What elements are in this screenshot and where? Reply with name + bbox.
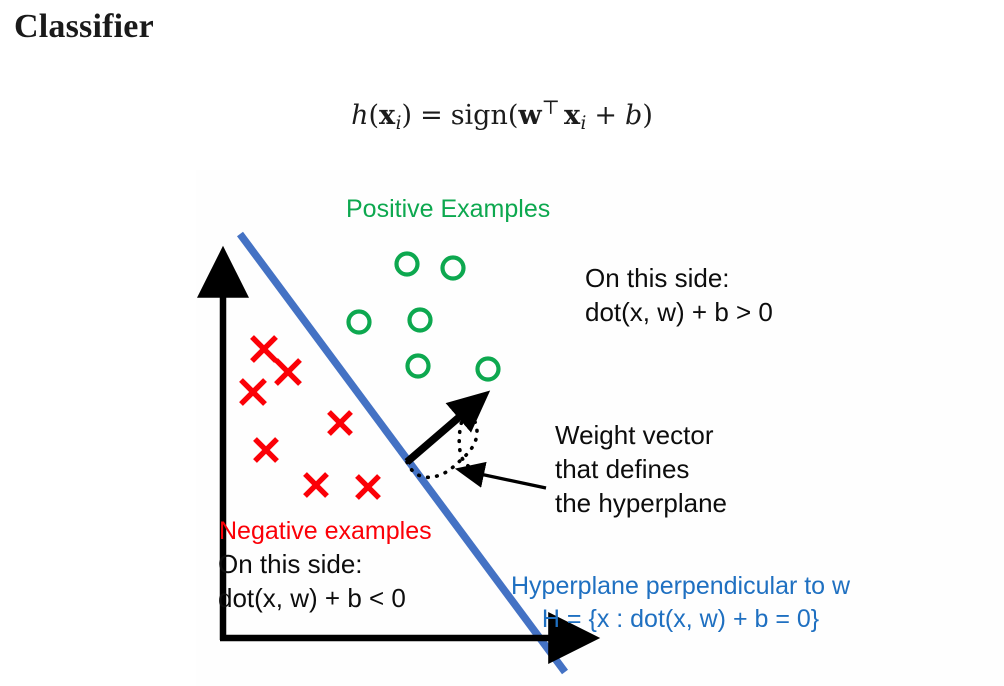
formula-sign-operator: sign [451, 100, 508, 131]
weight-vector-line-1: Weight vector [555, 419, 727, 453]
weight-vector-line-2: that defines [555, 453, 727, 487]
negative-examples-markers [241, 337, 379, 498]
negative-marker [305, 474, 327, 496]
classifier-figure: Positive Examples Negative examples On t… [196, 170, 1004, 686]
negative-marker [276, 360, 300, 384]
hyperplane-annotation: Hyperplane perpendicular to w H = {x : d… [511, 570, 850, 635]
positive-marker [349, 312, 370, 333]
hyperplane-line-2: H = {x : dot(x, w) + b = 0} [511, 603, 850, 636]
positive-side-line-2: dot(x, w) + b > 0 [585, 296, 773, 330]
negative-marker [255, 439, 277, 461]
positive-marker [443, 258, 464, 279]
formula-x-1: x [379, 100, 395, 131]
positive-side-line-1: On this side: [585, 262, 773, 296]
positive-examples-markers [349, 254, 499, 380]
formula-h: h [351, 100, 368, 131]
formula-w: w [518, 100, 541, 131]
positive-marker [410, 310, 431, 331]
page-title: Classifier [14, 7, 154, 47]
formula-subscript-2: i [581, 113, 587, 134]
formula-b: b [625, 100, 642, 131]
positive-side-annotation: On this side: dot(x, w) + b > 0 [585, 262, 773, 330]
positive-marker [478, 359, 499, 380]
formula-transpose: ⊤ [542, 96, 560, 119]
positive-examples-label: Positive Examples [346, 193, 550, 226]
negative-side-annotation: On this side: dot(x, w) + b < 0 [218, 548, 406, 616]
negative-marker [241, 380, 265, 404]
formula-plus: + [594, 100, 617, 131]
negative-marker [329, 412, 351, 434]
positive-marker [397, 254, 418, 275]
negative-examples-label: Negative examples [219, 515, 432, 548]
formula-paren-open: ( [368, 100, 379, 131]
weight-vector-line-3: the hyperplane [555, 487, 727, 521]
hyperplane-line-1: Hyperplane perpendicular to w [511, 570, 850, 603]
positive-marker [408, 356, 429, 377]
formula-paren-open-2: ( [508, 100, 519, 131]
negative-marker [252, 337, 276, 361]
negative-side-line-1: On this side: [218, 548, 406, 582]
negative-marker [357, 476, 379, 498]
weight-vector-annotation: Weight vector that defines the hyperplan… [555, 419, 727, 520]
formula-paren-close: ) [402, 100, 413, 131]
formula-equals: = [420, 100, 443, 131]
formula-x-2: x [564, 100, 580, 131]
negative-side-line-2: dot(x, w) + b < 0 [218, 582, 406, 616]
formula-paren-close-2: ) [642, 100, 653, 131]
weight-vector-arrow [407, 413, 464, 462]
classifier-formula: h(xi)=sign(w⊤xi+b) [0, 96, 1004, 134]
weight-vector-pointer-arrow [480, 474, 546, 488]
